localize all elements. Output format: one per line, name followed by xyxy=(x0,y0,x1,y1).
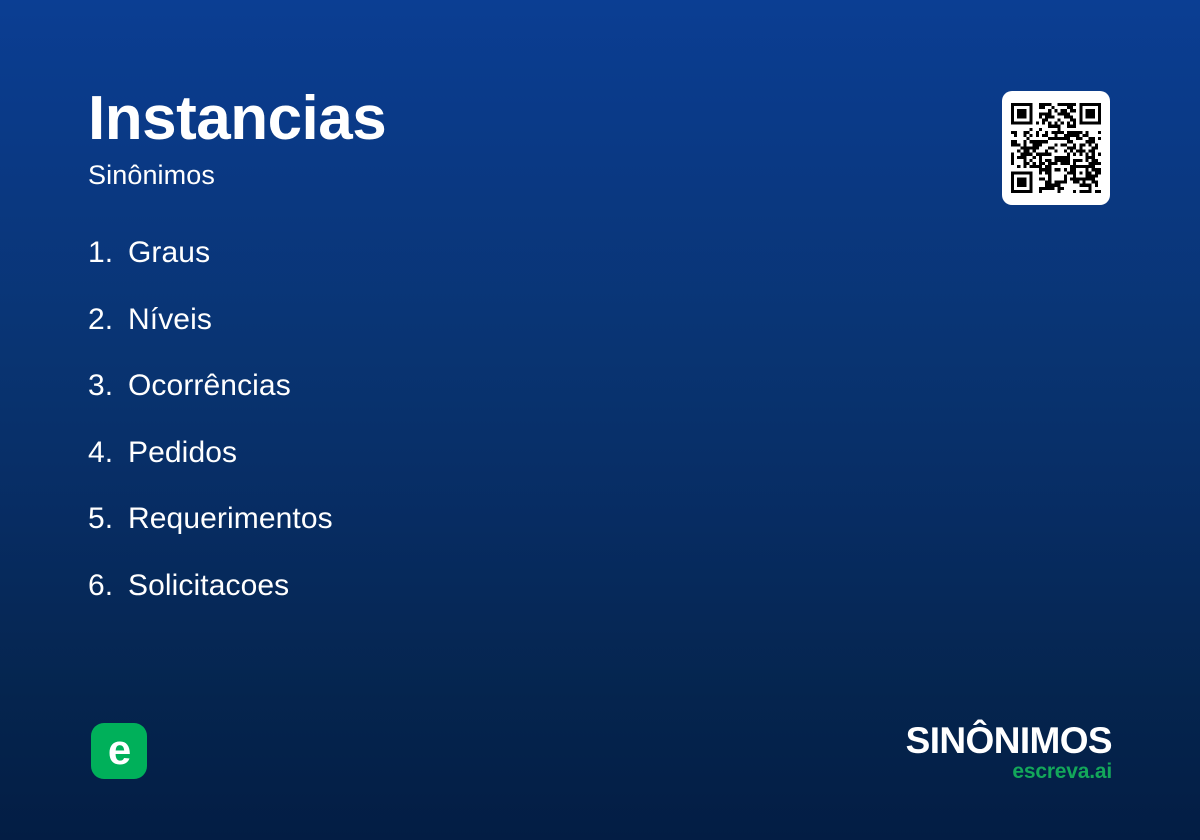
list-item-label: Graus xyxy=(128,236,210,270)
header: Instancias Sinônimos xyxy=(88,86,848,191)
list-item-index: 4. xyxy=(88,436,128,470)
page-subtitle: Sinônimos xyxy=(88,161,848,191)
brand-badge-letter: e xyxy=(108,729,130,771)
list-item: 4.Pedidos xyxy=(88,436,888,503)
list-item: 2.Níveis xyxy=(88,303,888,370)
list-item: 1.Graus xyxy=(88,236,888,303)
footer-logo-main: SINÔNIMOS xyxy=(906,722,1112,759)
footer-logo[interactable]: SINÔNIMOS escreva.ai xyxy=(906,722,1112,782)
list-item-label: Requerimentos xyxy=(128,502,333,536)
list-item-index: 6. xyxy=(88,569,128,603)
page-title: Instancias xyxy=(88,86,848,151)
list-item: 3.Ocorrências xyxy=(88,369,888,436)
list-item-index: 3. xyxy=(88,369,128,403)
footer-logo-sub: escreva.ai xyxy=(906,761,1112,782)
list-item-index: 5. xyxy=(88,502,128,536)
qr-code-icon xyxy=(1011,103,1101,193)
brand-badge[interactable]: e xyxy=(91,723,147,779)
synonym-card: Instancias Sinônimos 1.Graus2.Níveis3.Oc… xyxy=(0,0,1200,840)
list-item-index: 2. xyxy=(88,303,128,337)
list-item-label: Pedidos xyxy=(128,436,237,470)
list-item-label: Solicitacoes xyxy=(128,569,289,603)
qr-code-card[interactable] xyxy=(1002,91,1110,205)
list-item-label: Ocorrências xyxy=(128,369,291,403)
list-item-index: 1. xyxy=(88,236,128,270)
list-item: 5.Requerimentos xyxy=(88,502,888,569)
list-item-label: Níveis xyxy=(128,303,212,337)
list-item: 6.Solicitacoes xyxy=(88,569,888,636)
synonym-list: 1.Graus2.Níveis3.Ocorrências4.Pedidos5.R… xyxy=(88,236,888,635)
